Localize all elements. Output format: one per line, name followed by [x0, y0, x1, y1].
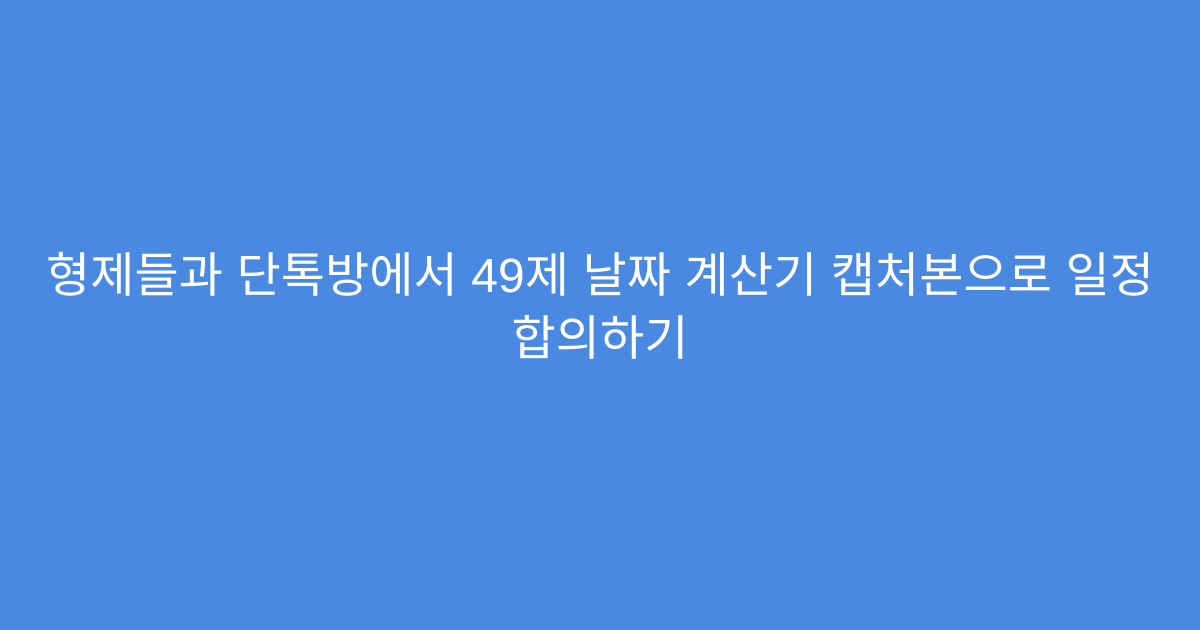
page-title: 형제들과 단톡방에서 49제 날짜 계산기 캡처본으로 일정 합의하기 — [40, 245, 1160, 371]
title-block: 형제들과 단톡방에서 49제 날짜 계산기 캡처본으로 일정 합의하기 — [40, 245, 1160, 371]
og-share-card: 형제들과 단톡방에서 49제 날짜 계산기 캡처본으로 일정 합의하기 — [0, 0, 1200, 630]
